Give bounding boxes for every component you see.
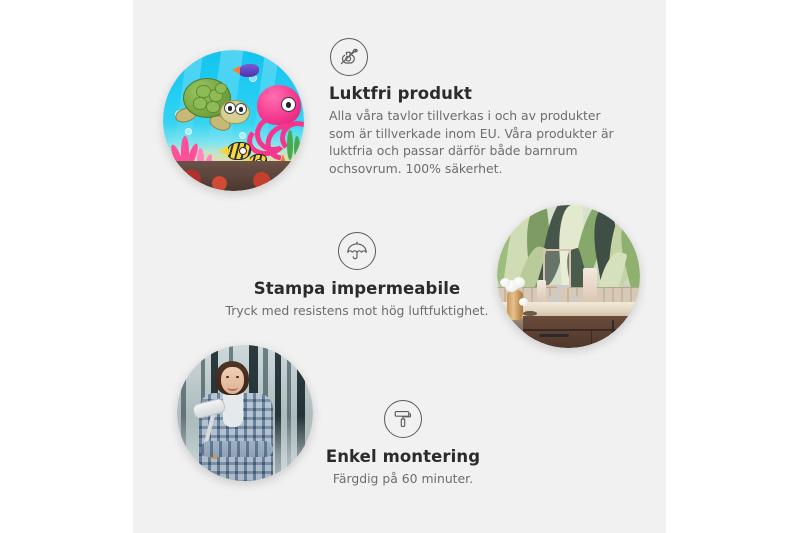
paint-roller-icon — [384, 400, 422, 438]
photo-bathroom-circle — [497, 205, 640, 348]
fish-purple — [239, 64, 259, 77]
photo-bathroom-art — [497, 205, 640, 348]
content-canvas: Luktfri produkt Alla våra tavlor tillver… — [133, 0, 666, 533]
umbrella-icon — [338, 232, 376, 270]
feature-waterproof: Stampa impermeabile Tryck med resistens … — [203, 232, 511, 320]
photo-underwater-art — [163, 50, 304, 191]
feature-odourless: Luktfri produkt Alla våra tavlor tillver… — [329, 38, 625, 177]
feature-title: Enkel montering — [273, 448, 533, 467]
feature-body: Tryck med resistens mot hög luftfuktighe… — [203, 302, 511, 320]
seafloor-strip — [163, 161, 304, 191]
vanity-cabinet — [523, 316, 640, 348]
photo-underwater-circle — [163, 50, 304, 191]
page-root: Luktfri produkt Alla våra tavlor tillver… — [0, 0, 800, 533]
feature-assembly: Enkel montering Färgdig på 60 minuter. — [273, 400, 533, 488]
feature-title: Luktfri produkt — [329, 85, 625, 104]
no-odour-perfume-bottle-icon — [330, 38, 368, 76]
feature-title: Stampa impermeabile — [203, 280, 511, 299]
feature-body: Alla våra tavlor tillverkas i och av pro… — [329, 107, 625, 177]
feature-body: Färgdig på 60 minuter. — [273, 470, 533, 488]
